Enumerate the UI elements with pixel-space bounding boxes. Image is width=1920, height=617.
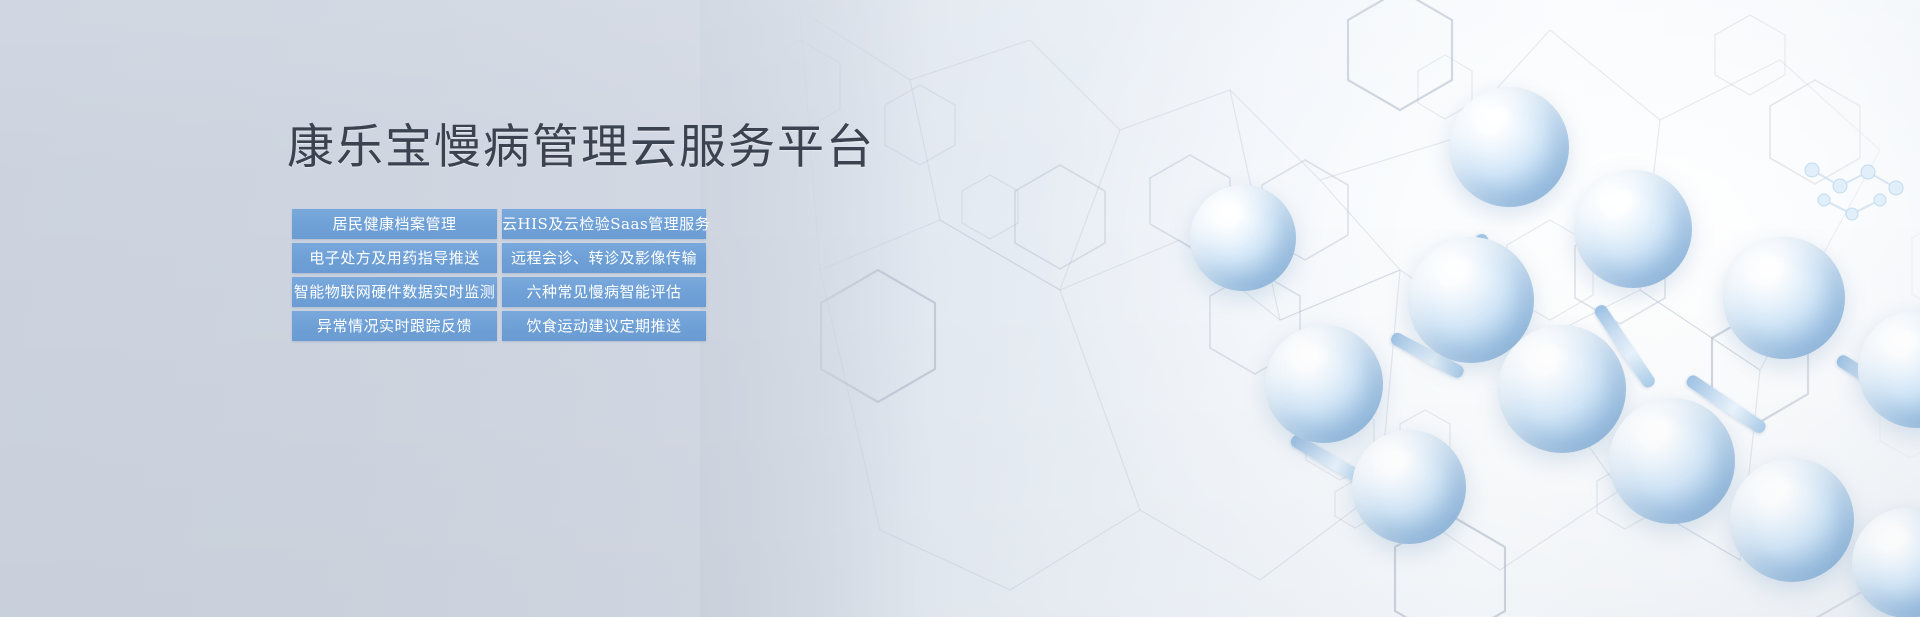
feature-item-iot-device-realtime-monitoring[interactable]: 智能物联网硬件数据实时监测 [292, 277, 497, 307]
feature-item-e-prescription-medication-guidance[interactable]: 电子处方及用药指导推送 [292, 243, 497, 273]
feature-item-resident-health-record[interactable]: 居民健康档案管理 [292, 209, 497, 239]
feature-item-diet-exercise-advice-push[interactable]: 饮食运动建议定期推送 [502, 311, 706, 341]
feature-item-abnormal-realtime-tracking[interactable]: 异常情况实时跟踪反馈 [292, 311, 497, 341]
feature-item-remote-consultation-imaging[interactable]: 远程会诊、转诊及影像传输 [502, 243, 706, 273]
page-title: 康乐宝慢病管理云服务平台 [287, 119, 875, 177]
feature-item-six-chronic-disease-assessment[interactable]: 六种常见慢病智能评估 [502, 277, 706, 307]
hero-banner: 康乐宝慢病管理云服务平台 居民健康档案管理 云HIS及云检验Saas管理服务 电… [0, 0, 1920, 617]
feature-grid: 居民健康档案管理 云HIS及云检验Saas管理服务 电子处方及用药指导推送 远程… [292, 209, 706, 341]
feature-item-cloud-his-lab-saas[interactable]: 云HIS及云检验Saas管理服务 [502, 209, 706, 239]
banner-content: 康乐宝慢病管理云服务平台 居民健康档案管理 云HIS及云检验Saas管理服务 电… [0, 0, 1920, 617]
